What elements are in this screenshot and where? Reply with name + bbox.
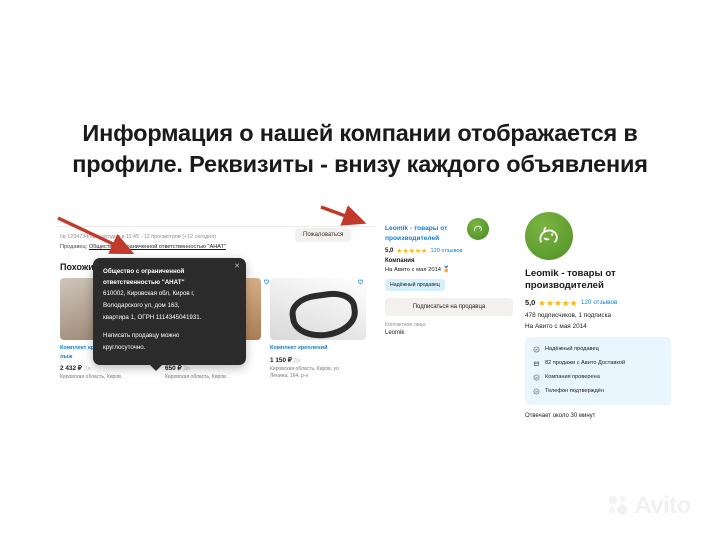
product-title[interactable]: Комплект креплений (270, 344, 348, 353)
product-location: Кировская область, Киров. (165, 374, 251, 382)
profile-subscribers: 478 подписчиков, 1 подписка (525, 312, 675, 319)
profile-since: На Авито с мая 2014 (525, 323, 675, 330)
page-title: Информация о нашей компании отображается… (34, 118, 686, 181)
product-price: 650 ₽Дв (165, 364, 261, 372)
badge-label: 82 продажи с Авито Доставкой (545, 360, 625, 367)
profile-name: Leomik - товары от производителей (525, 268, 653, 293)
avito-logo-icon (606, 493, 630, 517)
embedded-screenshot: № 1234734/02 · сегодня в 11:45 · 12 прос… (55, 220, 690, 450)
tooltip-line-4: Володарского ул, дом 163, (103, 301, 219, 312)
badge-label: Телефон подтверждён (545, 388, 604, 395)
profile-rating-row: 5,0 ★★★★★ 120 отзывов (525, 298, 675, 308)
product-price: 1 150 ₽Дв (270, 356, 366, 364)
list-item: Телефон подтверждён (525, 385, 671, 399)
seller-prefix-label: Продавец: (60, 244, 87, 250)
delivery-box-icon (533, 360, 540, 367)
seller-since: На Авито с мая 2014 🏅 (385, 266, 517, 273)
seller-summary-block: Leomik - товары от производителей 5,0 ★★… (385, 224, 517, 336)
tooltip-line-1: Общество с ограниченной (103, 267, 215, 278)
check-circle-icon (533, 388, 540, 395)
divider (55, 226, 375, 227)
tooltip-pointer (149, 364, 163, 371)
avito-wordmark: Avito (634, 492, 690, 519)
tooltip-line-2: ответственностью "АНАТ" (103, 278, 215, 289)
list-item: 82 продажи с Авито Доставкой (525, 357, 671, 371)
seller-entity-link[interactable]: Общество с ограниченной ответственностью… (89, 244, 226, 250)
tooltip-line-5: квартира 1, ОГРН 1114345041931. (103, 313, 219, 324)
complain-button[interactable]: Пожаловаться (295, 228, 351, 242)
check-circle-icon (533, 374, 540, 381)
since-text: На Авито с мая 2014 (385, 267, 441, 273)
reviews-link[interactable]: 120 отзывов (430, 248, 462, 254)
headline-line-2: профиле. Реквизиты - внизу каждого объяв… (34, 149, 686, 180)
price-value: 2 432 ₽ (60, 365, 82, 372)
tooltip-line-6: Написать продавцу можно (103, 331, 215, 342)
delivery-tag: Дв (184, 366, 191, 372)
profile-badge-list: Надёжный продавец 82 продажи с Авито Дос… (525, 337, 671, 405)
delivery-tag: Дв (294, 358, 301, 364)
company-details-tooltip: ✕ Общество с ограниченной ответственност… (93, 258, 246, 365)
reviews-link[interactable]: 120 отзывов (581, 299, 618, 306)
rating-value: 5,0 (385, 248, 393, 254)
seller-name-link[interactable]: Leomik - товары от производителей (385, 224, 477, 244)
star-rating-icon: ★★★★★ (538, 298, 578, 308)
favorite-heart-icon[interactable] (263, 278, 270, 285)
status-badge: Надёжный продавец (385, 279, 445, 291)
star-rating-icon: ★★★★★ (396, 247, 427, 255)
product-location: Кировская область, Киров, ул. Ленина, 16… (270, 366, 356, 381)
seller-rating-row: 5,0 ★★★★★ 120 отзывов (385, 247, 517, 255)
product-price: 2 432 ₽Дв (60, 364, 156, 372)
avito-watermark: Avito (606, 492, 691, 520)
close-icon[interactable]: ✕ (234, 263, 240, 270)
price-value: 650 ₽ (165, 365, 182, 372)
rating-value: 5,0 (525, 298, 535, 307)
badge-label: Надёжный продавец (545, 346, 599, 353)
headline-line-1: Информация о нашей компании отображается… (34, 118, 686, 149)
list-item: Компания проверена (525, 371, 671, 385)
tooltip-line-3: 610002, Кировская обл, Киров г, (103, 289, 219, 300)
badge-label: Компания проверена (545, 374, 600, 381)
seller-type: Компания (385, 258, 517, 264)
avatar[interactable] (525, 212, 573, 260)
contact-person-value: Leomik (385, 330, 517, 336)
list-item: Надёжный продавец (525, 343, 671, 357)
price-value: 1 150 ₽ (270, 357, 292, 364)
company-logo-avatar-icon (532, 219, 566, 253)
company-logo-avatar-icon (470, 221, 486, 237)
response-time: Отвечает около 30 минут (525, 413, 675, 419)
subscribe-button[interactable]: Подписаться на продавца (385, 298, 513, 316)
favorite-heart-icon[interactable] (357, 278, 364, 285)
company-profile-card: Leomik - товары от производителей 5,0 ★★… (525, 212, 675, 419)
list-item[interactable]: Комплект креплений 1 150 ₽Дв Кировская о… (270, 278, 366, 381)
product-location: Кировская область, Киров. (60, 374, 146, 382)
tooltip-line-7: круглосуточно. (103, 343, 219, 354)
check-circle-icon (533, 346, 540, 353)
seller-avatar-small[interactable] (467, 218, 489, 240)
medal-icon: 🏅 (443, 267, 450, 273)
product-image[interactable] (270, 278, 366, 340)
delivery-tag: Дв (84, 366, 91, 372)
contact-person-label: Контактное лицо (385, 322, 517, 328)
